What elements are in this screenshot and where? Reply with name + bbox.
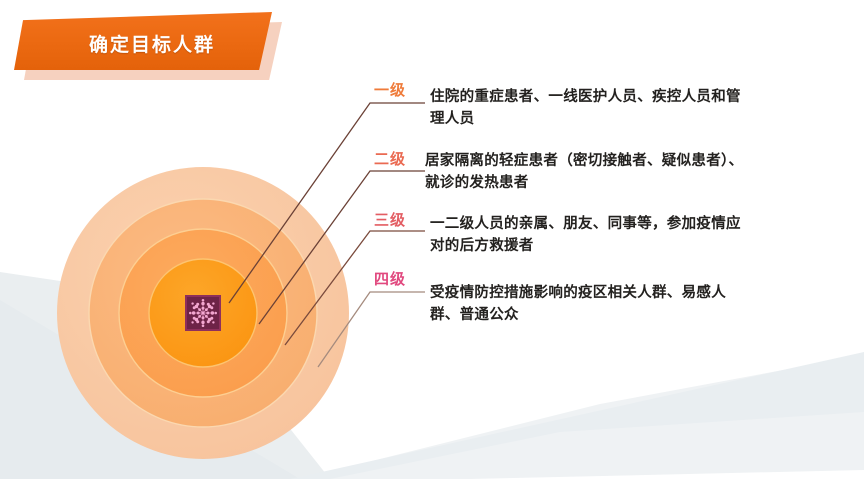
level-text-2: 居家隔离的轻症患者（密切接触者、疑似患者）、就诊的发热患者: [425, 150, 747, 195]
level-tag-3: 三级: [374, 209, 406, 230]
slide-canvas: 一级 住院的重症患者、一线医护人员、疾控人员和管理人员 二级 居家隔离的轻症患者…: [0, 0, 864, 479]
leader-line-level-2: [259, 171, 425, 324]
level-text-1: 住院的重症患者、一线医护人员、疾控人员和管理人员: [430, 86, 752, 131]
level-text-3: 一二级人员的亲属、朋友、同事等，参加疫情应对的后方救援者: [430, 213, 752, 258]
title-banner: 确定目标人群: [14, 12, 282, 80]
title-banner-face: 确定目标人群: [14, 12, 272, 70]
level-tag-1: 一级: [374, 79, 406, 100]
level-tag-2: 二级: [374, 148, 406, 169]
level-text-4: 受疫情防控措施影响的疫区相关人群、易感人群、普通公众: [430, 282, 752, 327]
level-tag-4: 四级: [374, 268, 406, 289]
leader-line-level-4: [318, 292, 425, 367]
page-title: 确定目标人群: [71, 26, 215, 57]
